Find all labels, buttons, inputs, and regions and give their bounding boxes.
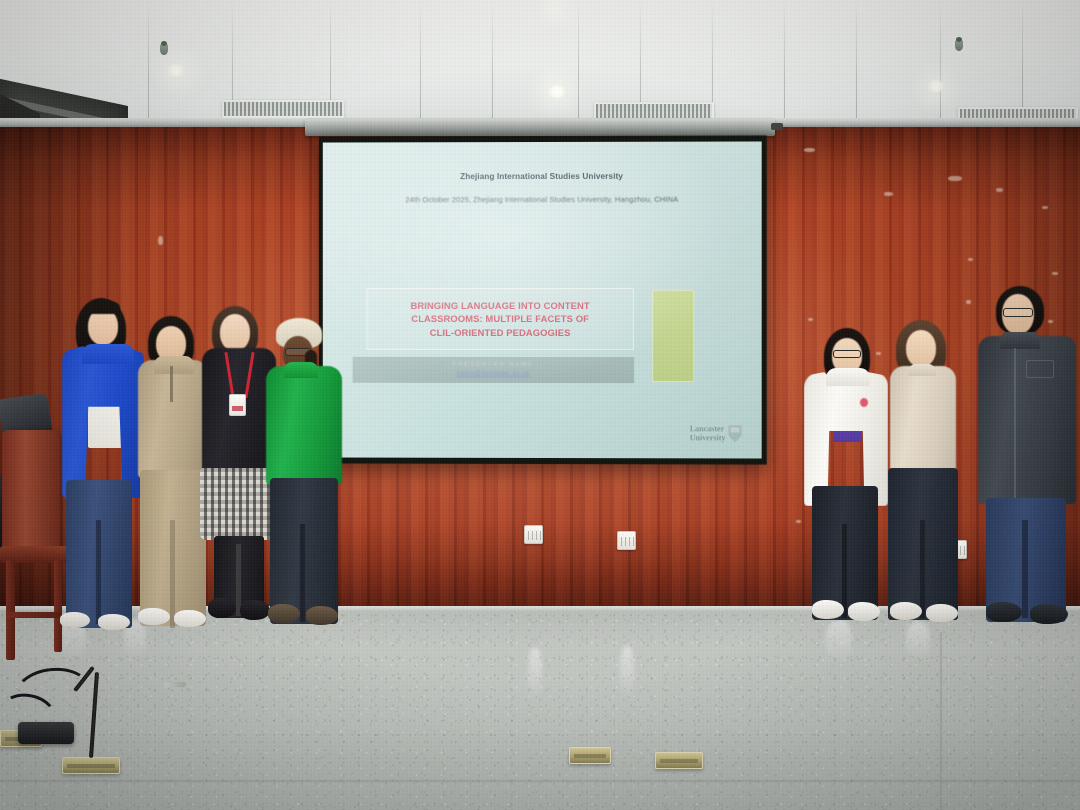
shoe [1030, 604, 1068, 624]
projector-screen-frame: Zhejiang International Studies Universit… [319, 135, 767, 464]
wall-scuff [1052, 272, 1058, 275]
leg-gap [920, 520, 925, 618]
wall-scuff [1048, 320, 1053, 323]
head [220, 314, 250, 351]
slide-author-band: PRESENTER NAME name@lancaster.ac.uk [353, 357, 634, 383]
floor-seam [940, 632, 942, 810]
wall-scuff [158, 236, 163, 245]
shoe [848, 602, 880, 621]
floor-seam [0, 780, 1080, 782]
slide-title-box: BRINGING LANGUAGE INTO CONTENT CLASSROOM… [367, 288, 635, 350]
shoe [240, 600, 270, 620]
wall-scuff [1042, 206, 1048, 209]
fleece-zip [170, 366, 173, 402]
torso-green-sweater [266, 366, 342, 484]
floor-reflection [826, 620, 852, 664]
jacket-chest-pocket [1026, 360, 1054, 378]
downlight-icon [167, 64, 185, 77]
leg-gap [170, 520, 175, 628]
floor-reflection [620, 646, 634, 702]
jacket-collar [82, 344, 134, 364]
slide-accent-box [652, 290, 694, 382]
leg-gap [1022, 520, 1028, 618]
jacket-collar [1000, 332, 1040, 349]
wall-scuff [968, 258, 973, 261]
sprinkler-head-icon [160, 44, 168, 55]
chair-leg [6, 560, 15, 660]
shoe [208, 598, 236, 618]
torso-cream-top [890, 366, 956, 478]
floor-socket-icon[interactable] [569, 747, 611, 764]
glasses-icon [1003, 308, 1033, 317]
chair-leg [54, 560, 62, 652]
shoe [138, 608, 170, 625]
name-badge [229, 394, 246, 416]
sprinkler-head-icon [955, 40, 963, 51]
downlight-icon [927, 80, 945, 92]
slide-author-name: PRESENTER NAME [353, 361, 634, 368]
head [906, 330, 936, 367]
crest-icon [728, 425, 741, 442]
chair-stretcher [6, 612, 62, 618]
slide-title-line-1: BRINGING LANGUAGE INTO CONTENT [411, 299, 590, 313]
logo-text: Lancaster University [690, 426, 726, 442]
floor [0, 612, 1080, 810]
wall-scuff [876, 352, 881, 355]
power-outlet-icon[interactable] [524, 525, 543, 544]
wall-scuff [804, 148, 815, 152]
leg-gap [96, 520, 101, 624]
shoe [890, 602, 922, 620]
wall-scuff [796, 520, 801, 523]
shoe [306, 606, 338, 625]
jacket-zip [1014, 348, 1016, 498]
hair-fringe [86, 300, 120, 314]
hoodie-hood [826, 368, 870, 386]
lapel-pin-icon [860, 398, 868, 407]
slide-title: BRINGING LANGUAGE INTO CONTENT CLASSROOM… [411, 299, 590, 340]
power-brick-icon [18, 722, 74, 744]
floor-socket-icon[interactable] [655, 752, 703, 769]
shoe [926, 604, 958, 622]
projected-slide: Zhejiang International Studies Universit… [323, 141, 762, 458]
wall-scuff [808, 318, 813, 321]
fleece-collar [154, 356, 194, 374]
wall-scuff [884, 192, 893, 196]
slide-header: Zhejiang International Studies Universit… [323, 172, 762, 205]
slide-title-line-3: CLIL-ORIENTED PEDAGOGIES [411, 326, 590, 340]
sweater-collar [284, 362, 318, 378]
logo-line-2: University [690, 434, 726, 442]
leg-gap [300, 524, 305, 622]
torso-beige-fleece [138, 360, 208, 478]
slide-author-email: name@lancaster.ac.uk [353, 370, 634, 377]
slide-event-line: 24th October 2025, Zhejiang Internationa… [323, 195, 762, 205]
shoe [98, 614, 130, 630]
slide-title-line-2: CLASSROOMS: MULTIPLE FACETS OF [411, 312, 590, 326]
wall-scuff [948, 176, 962, 181]
floor-debris [164, 682, 186, 687]
shoe [60, 612, 90, 628]
floor-socket-icon[interactable] [62, 757, 120, 774]
floor-reflection [528, 648, 542, 702]
power-outlet-icon[interactable] [617, 531, 636, 550]
shoe [174, 610, 206, 627]
floor-reflection [906, 622, 930, 662]
downlight-icon [548, 85, 566, 98]
shoe [812, 600, 844, 619]
wall-scuff [996, 188, 1003, 192]
projector-screen-housing [305, 119, 775, 136]
lancaster-university-logo: Lancaster University [690, 425, 742, 442]
glasses-icon [833, 350, 861, 358]
top-neckline [908, 364, 936, 376]
wall-scuff [966, 300, 971, 304]
leg-gap [842, 524, 847, 618]
wooden-chair-icon [2, 430, 60, 548]
conference-group-photo: Zhejiang International Studies Universit… [0, 0, 1080, 810]
shoe [268, 604, 300, 623]
air-vent-icon [222, 100, 344, 118]
shoe [986, 602, 1022, 622]
slide-organisation: Zhejiang International Studies Universit… [323, 172, 762, 182]
